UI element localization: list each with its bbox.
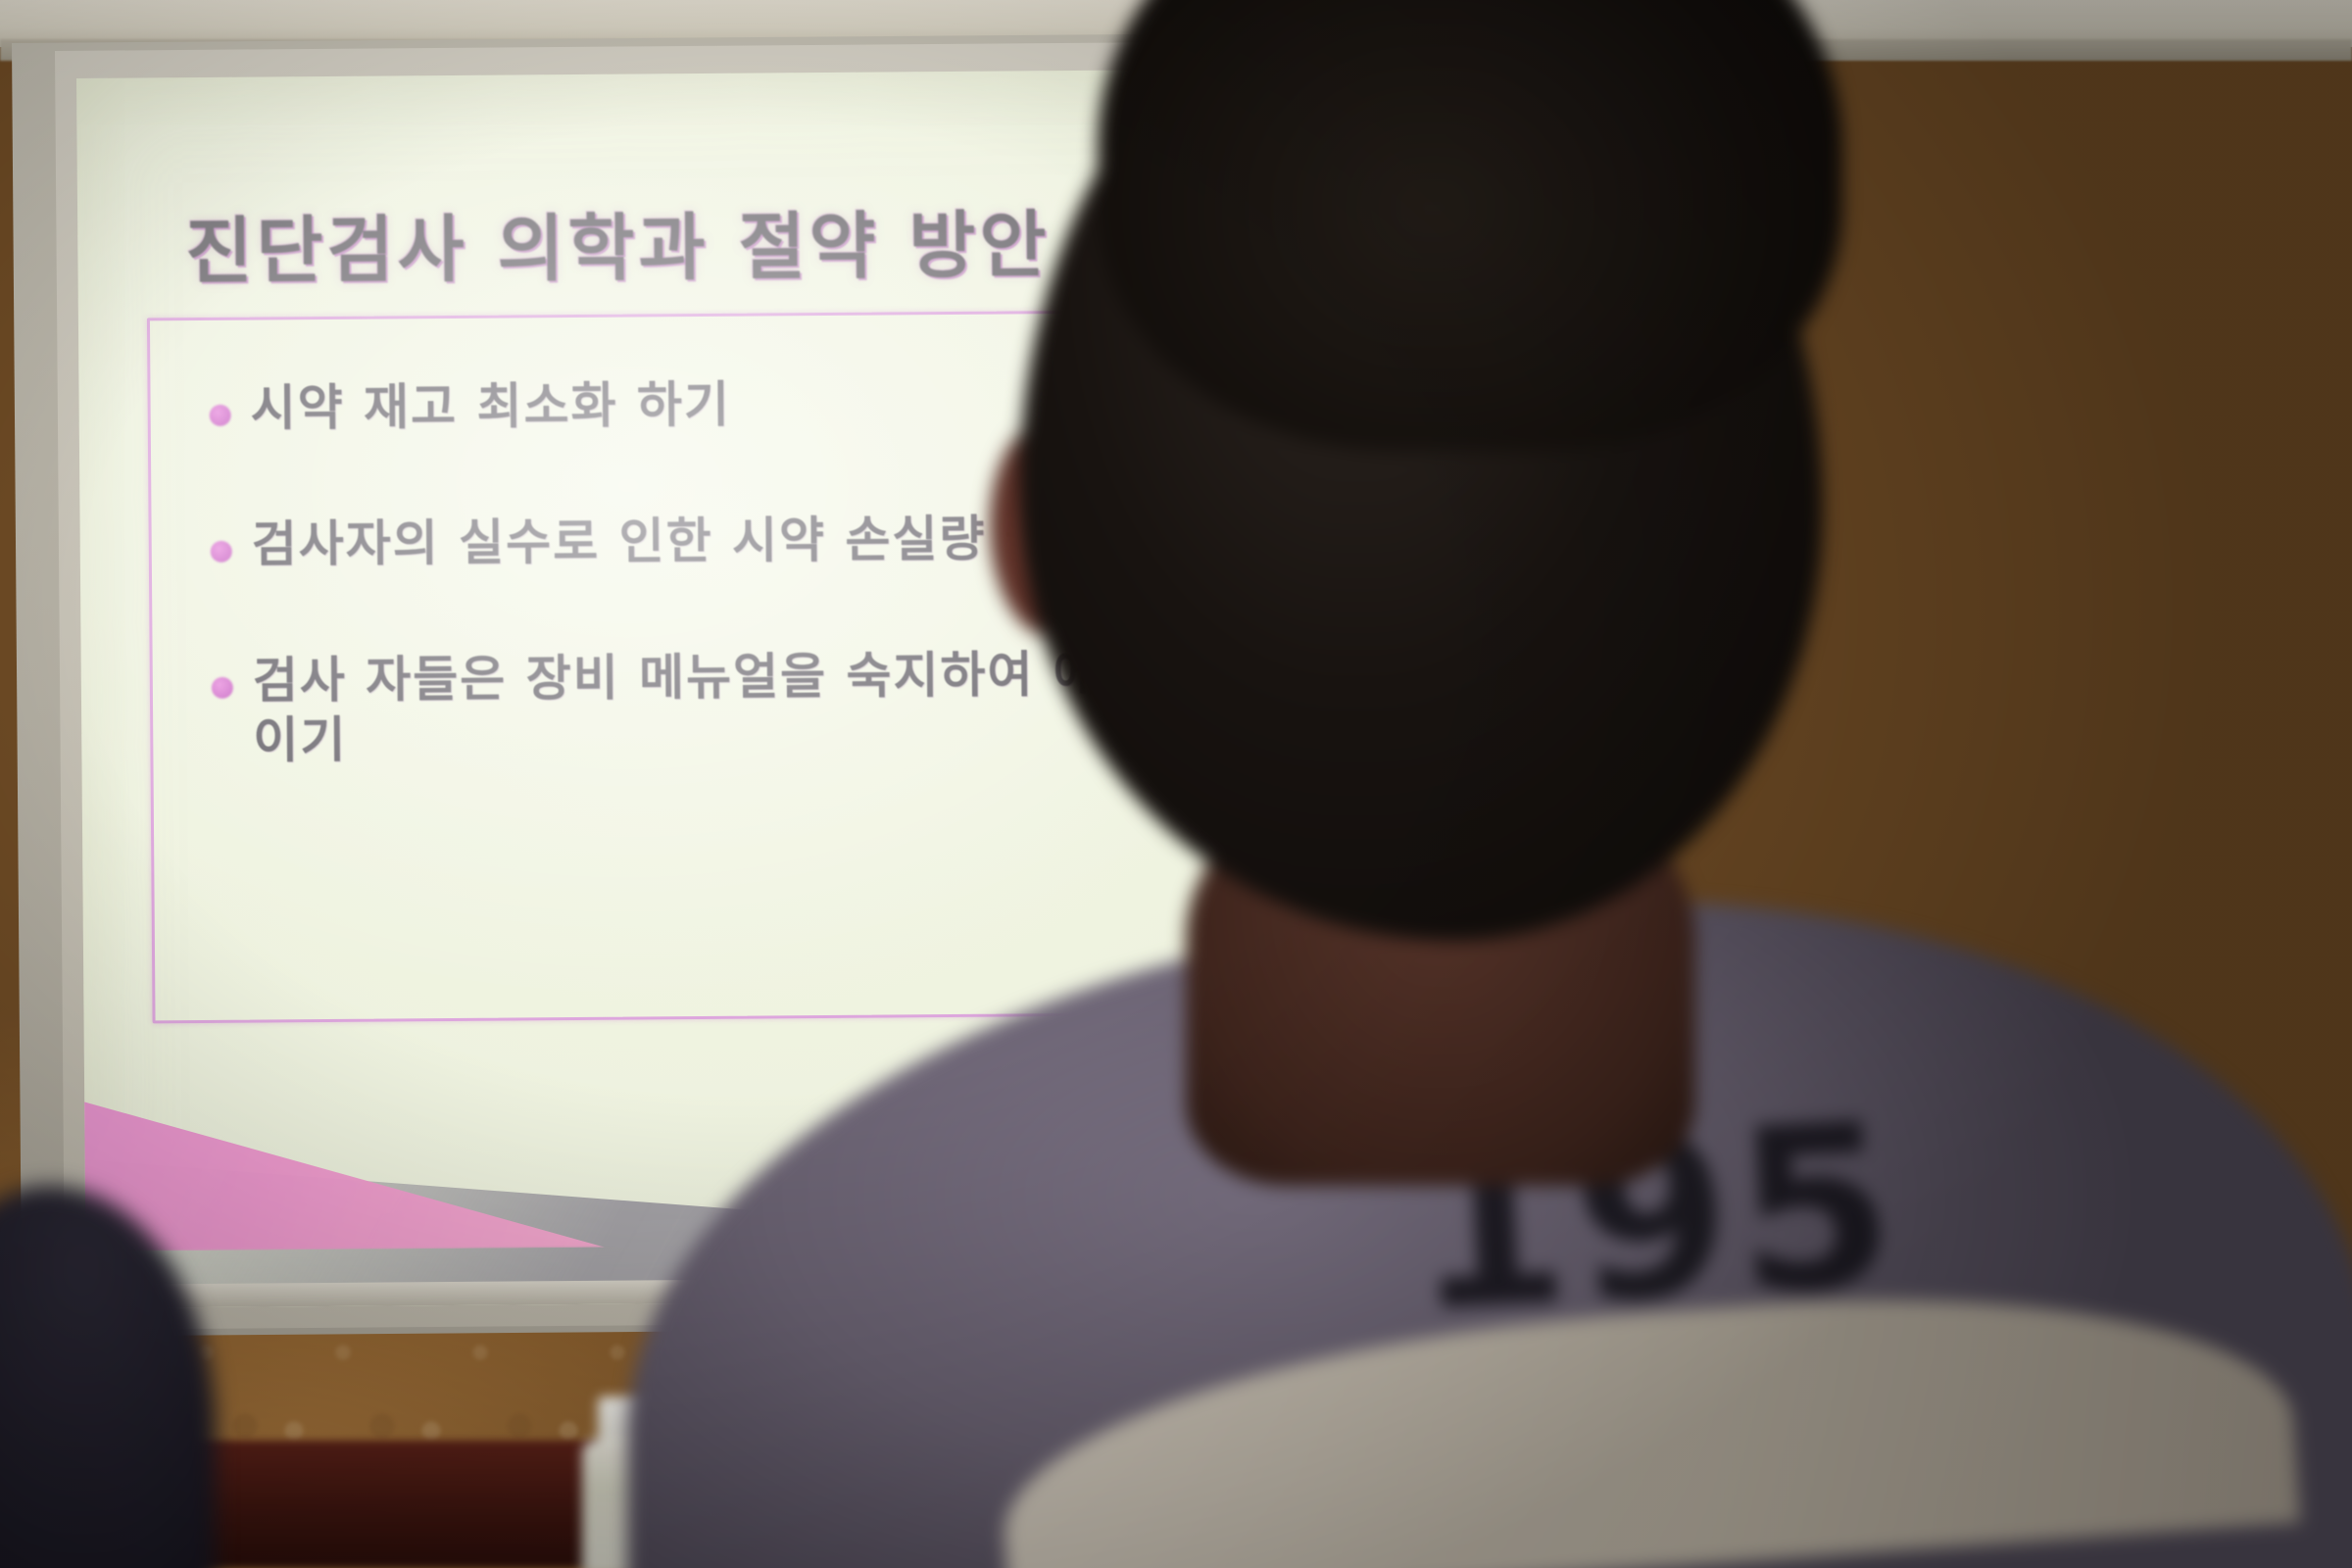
bullet-dot-icon [210, 405, 231, 426]
bullet-dot-icon [211, 541, 232, 563]
bullet-text: 시약 재고 최소화 하기 [250, 375, 731, 439]
foreground-person: 195 [862, 0, 2352, 1568]
bullet-dot-icon [212, 677, 233, 699]
person-hair [1098, 0, 1842, 451]
photo-scene: 진단검사 의학과 절약 방안 시약 재고 최소화 하기 검사자의 실수로 인한 … [0, 0, 2352, 1568]
